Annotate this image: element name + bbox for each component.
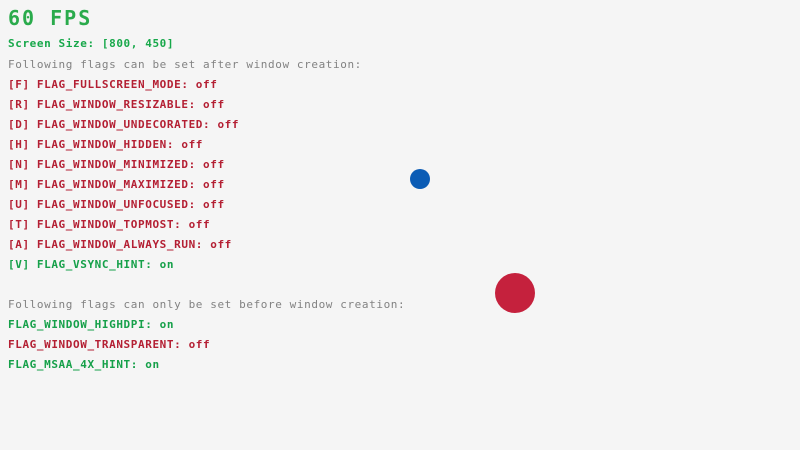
screen-size-label: Screen Size: [800, 450] bbox=[8, 38, 174, 49]
flag-row-flag-window-topmost[interactable]: [T] FLAG_WINDOW_TOPMOST: off bbox=[8, 219, 210, 230]
flag-row-flag-window-resizable[interactable]: [R] FLAG_WINDOW_RESIZABLE: off bbox=[8, 99, 225, 110]
flag-row-flag-window-highdpi[interactable]: FLAG_WINDOW_HIGHDPI: on bbox=[8, 319, 174, 330]
app-canvas[interactable]: 60 FPS Screen Size: [800, 450] Following… bbox=[0, 0, 800, 450]
flag-row-flag-fullscreen-mode[interactable]: [F] FLAG_FULLSCREEN_MODE: off bbox=[8, 79, 217, 90]
blue-ball-shape bbox=[410, 169, 430, 189]
fps-counter: 60 FPS bbox=[8, 8, 92, 28]
flag-row-flag-window-minimized[interactable]: [N] FLAG_WINDOW_MINIMIZED: off bbox=[8, 159, 225, 170]
flag-row-flag-window-undecorated[interactable]: [D] FLAG_WINDOW_UNDECORATED: off bbox=[8, 119, 239, 130]
flag-row-flag-msaa-4x-hint[interactable]: FLAG_MSAA_4X_HINT: on bbox=[8, 359, 160, 370]
flag-row-flag-window-transparent[interactable]: FLAG_WINDOW_TRANSPARENT: off bbox=[8, 339, 210, 350]
after-creation-section-header: Following flags can be set after window … bbox=[8, 59, 362, 70]
before-creation-section-header: Following flags can only be set before w… bbox=[8, 299, 405, 310]
flag-row-flag-window-always-run[interactable]: [A] FLAG_WINDOW_ALWAYS_RUN: off bbox=[8, 239, 232, 250]
flag-row-flag-window-hidden[interactable]: [H] FLAG_WINDOW_HIDDEN: off bbox=[8, 139, 203, 150]
flag-row-flag-window-unfocused[interactable]: [U] FLAG_WINDOW_UNFOCUSED: off bbox=[8, 199, 225, 210]
flag-row-flag-window-maximized[interactable]: [M] FLAG_WINDOW_MAXIMIZED: off bbox=[8, 179, 225, 190]
red-ball-shape bbox=[495, 273, 535, 313]
flag-row-flag-vsync-hint[interactable]: [V] FLAG_VSYNC_HINT: on bbox=[8, 259, 174, 270]
